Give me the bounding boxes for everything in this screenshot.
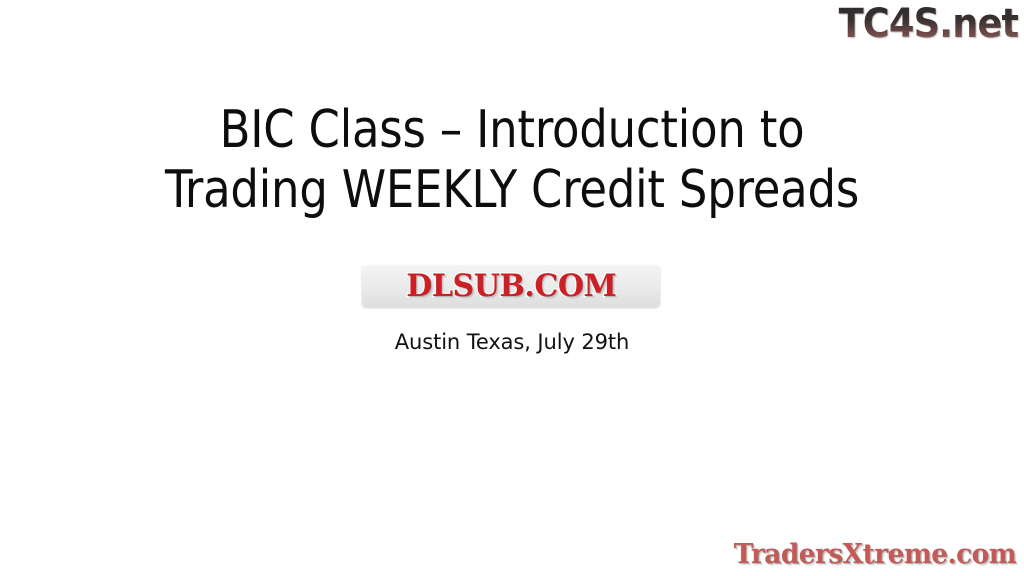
dlsub-stamp: DLSUB.COM <box>362 265 660 307</box>
dlsub-stamp-label: DLSUB.COM <box>406 270 616 302</box>
presentation-slide: TC4S.net BIC Class – Introduction to Tra… <box>0 0 1024 576</box>
slide-title: BIC Class – Introduction to Trading WEEK… <box>0 100 1024 220</box>
tradersxtreme-watermark: TradersXtreme.com <box>734 540 1016 570</box>
tc4s-watermark: TC4S.net <box>838 2 1018 46</box>
slide-subtitle: Austin Texas, July 29th <box>0 329 1024 355</box>
title-line-1: BIC Class – Introduction to <box>20 100 1003 160</box>
title-line-2: Trading WEEKLY Credit Spreads <box>20 160 1003 220</box>
